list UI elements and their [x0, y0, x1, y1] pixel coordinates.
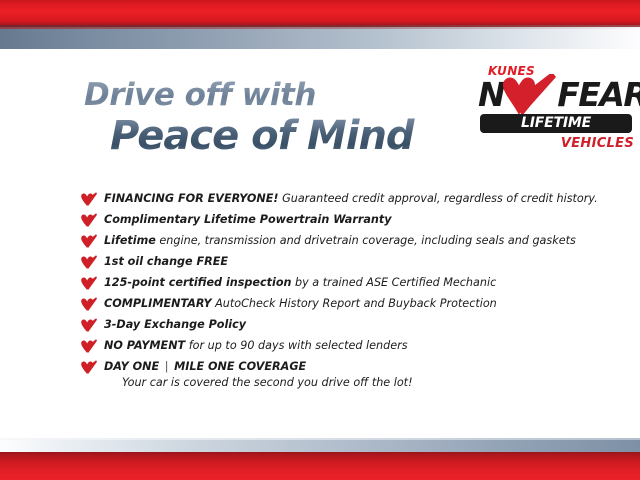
benefit-detail: Guaranteed credit approval, regardless o… — [279, 192, 598, 205]
heart-check-icon — [80, 234, 97, 248]
benefit-item: COMPLIMENTARY AutoCheck History Report a… — [80, 297, 580, 311]
kunes-no-fear-logo: KUNES NOOFEAR LIFETIME CERTIFIED VEHICLE… — [478, 64, 636, 159]
logo-lifetime-certified-text: LIFETIME CERTIFIED — [480, 114, 632, 133]
logo-no-fear-wordmark: NOOFEAR — [478, 77, 636, 113]
benefit-item: 1st oil change FREE — [80, 255, 580, 269]
logo-lifetime-certified-bar: LIFETIME CERTIFIED — [480, 114, 632, 133]
benefit-separator: | — [159, 360, 174, 373]
logo-letter-n: N — [478, 75, 504, 114]
top-red-stripe — [0, 0, 640, 27]
top-gray-stripe — [0, 27, 640, 49]
benefits-list: FINANCING FOR EVERYONE! Guaranteed credi… — [80, 192, 580, 397]
benefit-item: 3-Day Exchange Policy — [80, 318, 580, 332]
logo-wordmark-spacer: OO — [504, 75, 557, 114]
heart-check-icon — [80, 192, 97, 206]
benefit-emphasis: Lifetime — [104, 234, 156, 247]
benefit-emphasis: NO PAYMENT — [104, 339, 185, 352]
headline-line-2: Peace of Mind — [110, 114, 474, 158]
benefit-emphasis: 3-Day Exchange Policy — [104, 318, 246, 331]
benefit-emphasis: FINANCING FOR EVERYONE! — [104, 192, 279, 205]
headline-line-1: Drive off with — [84, 78, 474, 112]
heart-check-icon — [80, 318, 97, 332]
heart-check-icon — [80, 255, 97, 269]
benefit-detail: engine, transmission and drivetrain cove… — [156, 234, 576, 247]
benefit-item: Lifetime engine, transmission and drivet… — [80, 234, 580, 248]
advertisement-banner: Drive off with Peace of Mind KUNES NOOFE… — [0, 0, 640, 480]
benefit-emphasis: DAY ONE — [104, 360, 159, 373]
headline-block: Drive off with Peace of Mind — [84, 78, 474, 158]
benefit-detail: AutoCheck History Report and Buyback Pro… — [212, 297, 497, 310]
benefit-item: 125-point certified inspection by a trai… — [80, 276, 580, 290]
benefit-emphasis-2: MILE ONE COVERAGE — [174, 360, 306, 373]
bottom-red-stripe — [0, 452, 640, 480]
logo-word-fear: FEAR — [557, 75, 640, 114]
heart-check-icon — [80, 360, 97, 374]
benefit-emphasis: 125-point certified inspection — [104, 276, 291, 289]
benefit-subtext: Your car is covered the second you drive… — [122, 376, 580, 390]
benefit-item: FINANCING FOR EVERYONE! Guaranteed credi… — [80, 192, 580, 206]
logo-vehicles-text: VEHICLES — [561, 136, 634, 151]
benefit-detail: by a trained ASE Certified Mechanic — [291, 276, 496, 289]
benefit-emphasis: COMPLIMENTARY — [104, 297, 212, 310]
bottom-gray-stripe — [0, 438, 640, 452]
benefit-detail: for up to 90 days with selected lenders — [185, 339, 407, 352]
benefit-emphasis: Complimentary Lifetime Powertrain Warran… — [104, 213, 392, 226]
benefit-emphasis: 1st oil change FREE — [104, 255, 228, 268]
heart-check-icon — [80, 339, 97, 353]
benefit-item: Complimentary Lifetime Powertrain Warran… — [80, 213, 580, 227]
logo-wordmark-text: NOOFEAR — [478, 77, 640, 113]
benefit-item: NO PAYMENT for up to 90 days with select… — [80, 339, 580, 353]
heart-check-icon — [80, 276, 97, 290]
benefit-item: DAY ONE | MILE ONE COVERAGEYour car is c… — [80, 360, 580, 390]
heart-check-icon — [80, 213, 97, 227]
heart-check-icon — [80, 297, 97, 311]
